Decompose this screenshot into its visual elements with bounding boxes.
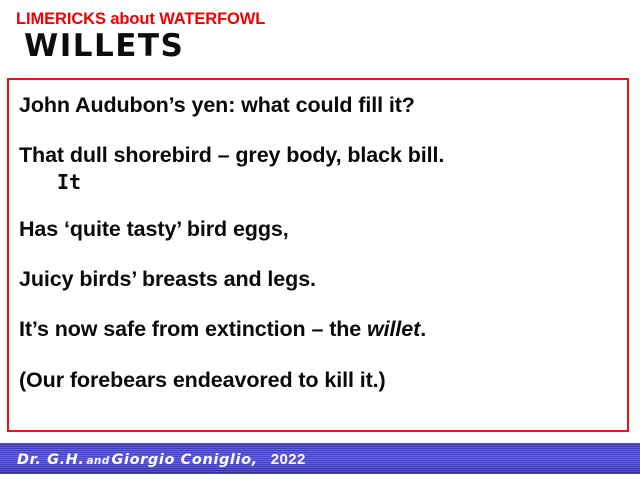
credit-year: 2022 — [258, 450, 306, 467]
poem-line-4-text: Juicy birds’ breasts and legs. — [19, 267, 316, 291]
poem-line-2-wrap-tail: It — [19, 169, 621, 196]
poem-line-5-text-after: . — [420, 317, 426, 341]
poem-line-4: Juicy birds’ breasts and legs. — [19, 267, 621, 292]
footer-credit-bar: Dr. G.H.andGiorgio Coniglio,2022 — [0, 443, 640, 474]
poem-line-5-text: It’s now safe from extinction – the — [19, 317, 367, 341]
poem-text-block: John Audubon’s yen: what could fill it? … — [19, 93, 621, 393]
poem-line-5: It’s now safe from extinction – the will… — [19, 317, 621, 342]
footer-credit-text: Dr. G.H.andGiorgio Coniglio,2022 — [17, 450, 306, 467]
poem-line-3: Has ‘quite tasty’ bird eggs, — [19, 217, 621, 242]
credit-conjunction: and — [85, 454, 112, 466]
poem-line-2-text: That dull shorebird – grey body, black b… — [19, 143, 444, 167]
poem-box: John Audubon’s yen: what could fill it? … — [7, 78, 629, 432]
series-title: LIMERICKS about WATERFOWL — [16, 11, 265, 28]
poem-line-6-text: (Our forebears endeavored to kill it.) — [19, 368, 386, 392]
credit-author-secondary: Giorgio Coniglio, — [112, 451, 258, 467]
poem-line-6: (Our forebears endeavored to kill it.) — [19, 368, 621, 393]
poem-line-1: John Audubon’s yen: what could fill it? — [19, 93, 621, 118]
credit-author-primary: Dr. G.H. — [17, 451, 85, 467]
poem-line-1-text: John Audubon’s yen: what could fill it? — [19, 93, 415, 117]
poem-line-3-text: Has ‘quite tasty’ bird eggs, — [19, 217, 289, 241]
slide-title: WILLETS — [24, 29, 184, 63]
poem-line-5-emphasis: willet — [367, 317, 420, 341]
poem-line-2: That dull shorebird – grey body, black b… — [19, 143, 621, 195]
slide-canvas: LIMERICKS about WATERFOWL WILLETS John A… — [0, 0, 640, 480]
